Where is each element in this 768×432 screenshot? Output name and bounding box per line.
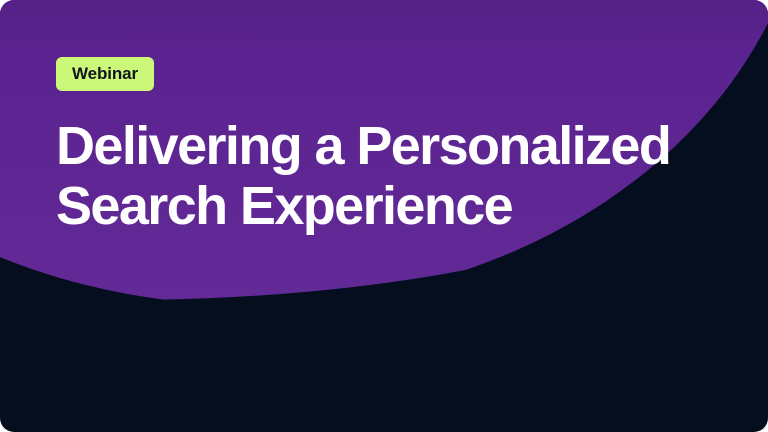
page-title-line-1: Delivering a Personalized bbox=[56, 116, 676, 176]
banner-content: Webinar Delivering a Personalized Search… bbox=[56, 57, 716, 237]
page-title-line-2: Search Experience bbox=[56, 176, 676, 236]
webinar-banner: Webinar Delivering a Personalized Search… bbox=[0, 0, 768, 432]
page-title: Delivering a Personalized Search Experie… bbox=[56, 116, 676, 237]
webinar-badge: Webinar bbox=[56, 57, 154, 91]
